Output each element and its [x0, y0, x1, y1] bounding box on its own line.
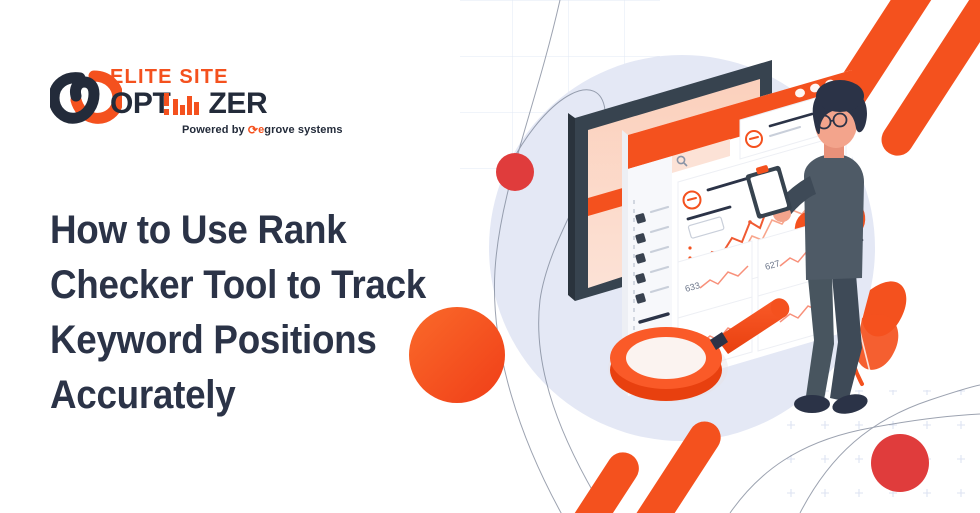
logo-wordmark: ELITE SITE OPTZER Powered by ⟳egrove sys… — [110, 66, 310, 120]
tagline-prefix: Powered by — [182, 124, 245, 136]
headline-line-2: Checker Tool to Track — [50, 258, 446, 313]
logo-line-elite-site: ELITE SITE — [110, 66, 310, 88]
headline-line-3: Keyword Positions — [50, 313, 446, 368]
logo-line-optimizer: OPTZER — [110, 88, 310, 120]
monitor-bezel-edge — [568, 113, 575, 301]
blog-hero-banner: 633 627 020 95 — [0, 0, 980, 513]
person-hair-top — [816, 80, 864, 112]
illustration-stage: 633 627 020 95 — [400, 0, 980, 513]
tagline-brand-rest: grove systems — [264, 124, 342, 136]
person-torso — [804, 154, 864, 280]
red-circle-upper — [496, 153, 534, 191]
page-title: How to Use Rank Checker Tool to Track Ke… — [50, 203, 446, 423]
red-circle-lower-right — [871, 434, 929, 492]
logo-optimizer-suffix: ZER — [208, 87, 267, 120]
headline-line-4: Accurately — [50, 368, 446, 423]
logo-optimizer-prefix: OPT — [110, 87, 170, 120]
elite-site-optimizer-logo[interactable]: ELITE SITE OPTZER Powered by ⟳egrove sys… — [50, 66, 280, 146]
magnifier-lens — [626, 337, 706, 379]
headline-line-1: How to Use Rank — [50, 203, 446, 258]
egrove-swirl-icon: ⟳ — [248, 123, 258, 137]
bar-chart-letters-icon — [164, 95, 202, 115]
person-shoe-front — [794, 395, 830, 413]
logo-tagline: Powered by ⟳egrove systems — [182, 122, 343, 136]
